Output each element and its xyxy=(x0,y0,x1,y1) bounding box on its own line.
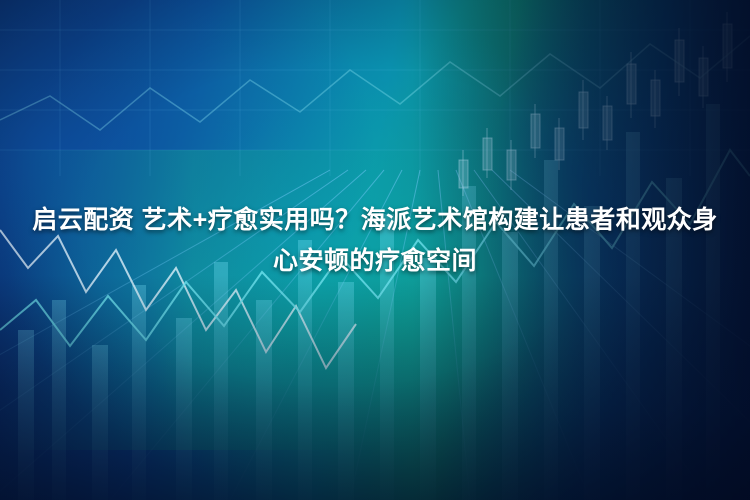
banner-title-line-1: 启云配资 艺术+疗愈实用吗？海派艺术馆构建让患者和观众身 xyxy=(18,200,732,241)
banner-title-line-2: 心安顿的疗愈空间 xyxy=(18,241,732,282)
banner-title: 启云配资 艺术+疗愈实用吗？海派艺术馆构建让患者和观众身 心安顿的疗愈空间 xyxy=(0,200,750,282)
banner-image: 启云配资 艺术+疗愈实用吗？海派艺术馆构建让患者和观众身 心安顿的疗愈空间 xyxy=(0,0,750,500)
